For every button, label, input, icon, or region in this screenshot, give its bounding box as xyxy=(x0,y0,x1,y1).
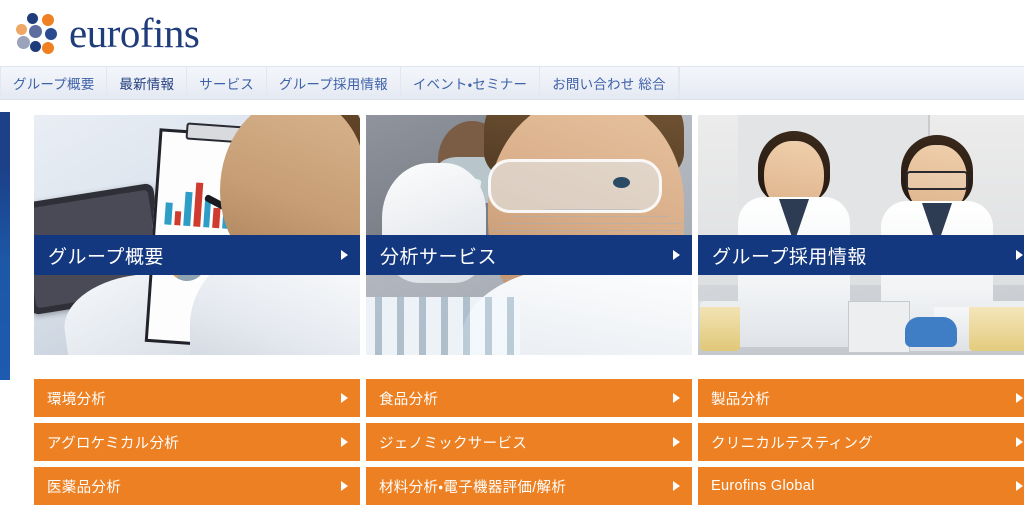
page-body: グループ概要 xyxy=(0,100,1024,504)
arrow-right-icon xyxy=(341,481,348,491)
hero-card-analysis-services[interactable]: 分析サービス xyxy=(366,115,692,355)
arrow-right-icon xyxy=(673,437,680,447)
content-area: グループ概要 xyxy=(34,100,1024,504)
eurofins-wordmark: eurofins xyxy=(69,13,199,54)
tile-label: 製品分析 xyxy=(711,388,770,409)
hero-bar-group-careers[interactable]: グループ採用情報 xyxy=(698,235,1024,275)
tile-label: ジェノミックサービス xyxy=(379,432,527,453)
arrow-right-icon xyxy=(673,250,680,260)
nav-item-services[interactable]: サービス xyxy=(187,67,267,99)
eurofins-logo[interactable]: eurofins xyxy=(14,11,199,55)
tile-label: 環境分析 xyxy=(47,388,106,409)
tile-label: 材料分析・電子機器評価/解析 xyxy=(379,476,566,497)
service-tile-eurofins-global[interactable]: Eurofins Global xyxy=(698,467,1024,505)
tile-label: 医薬品分析 xyxy=(47,476,121,497)
hero-label: グループ概要 xyxy=(48,242,164,269)
tile-label: クリニカルテスティング xyxy=(711,432,873,453)
eurofins-dots-logo-icon xyxy=(14,11,58,55)
service-tile-materials-electronics-analysis[interactable]: 材料分析・電子機器評価/解析 xyxy=(366,467,692,505)
service-tile-product-analysis[interactable]: 製品分析 xyxy=(698,379,1024,417)
arrow-right-icon xyxy=(1016,250,1023,260)
tile-label: 食品分析 xyxy=(379,388,438,409)
primary-navigation: グループ概要 最新情報 サービス グループ採用情報 イベント・セミナー お問い合… xyxy=(0,66,1024,100)
hero-card-row: グループ概要 xyxy=(34,100,1024,355)
arrow-right-icon xyxy=(341,393,348,403)
nav-item-contact-general[interactable]: お問い合わせ 総合 xyxy=(540,67,679,99)
tile-label: Eurofins Global xyxy=(711,478,815,494)
tile-label: アグロケミカル分析 xyxy=(47,432,179,453)
arrow-right-icon xyxy=(341,437,348,447)
arrow-right-icon xyxy=(341,250,348,260)
arrow-right-icon xyxy=(1016,437,1023,447)
arrow-right-icon xyxy=(1016,481,1023,491)
service-tile-grid: 環境分析 食品分析 製品分析 アグロケミカル分析 ジェノミックサービス クリニカ… xyxy=(34,379,1024,505)
nav-item-latest-news[interactable]: 最新情報 xyxy=(107,67,187,99)
arrow-right-icon xyxy=(673,393,680,403)
arrow-right-icon xyxy=(1016,393,1023,403)
service-tile-clinical-testing[interactable]: クリニカルテスティング xyxy=(698,423,1024,461)
hero-card-group-overview[interactable]: グループ概要 xyxy=(34,115,360,355)
service-tile-pharmaceutical-analysis[interactable]: 医薬品分析 xyxy=(34,467,360,505)
hero-label: グループ採用情報 xyxy=(712,242,867,269)
hero-card-group-careers[interactable]: グループ採用情報 xyxy=(698,115,1024,355)
nav-item-group-overview[interactable]: グループ概要 xyxy=(0,67,107,99)
hero-bar-analysis-services[interactable]: 分析サービス xyxy=(366,235,692,275)
left-blue-rail xyxy=(0,112,10,380)
service-tile-agrochemical-analysis[interactable]: アグロケミカル分析 xyxy=(34,423,360,461)
nav-item-events-seminars[interactable]: イベント・セミナー xyxy=(401,67,540,99)
nav-item-group-careers[interactable]: グループ採用情報 xyxy=(267,67,401,99)
hero-label: 分析サービス xyxy=(380,242,497,269)
service-tile-food-analysis[interactable]: 食品分析 xyxy=(366,379,692,417)
nav-spacer xyxy=(679,67,1024,99)
service-tile-genomic-services[interactable]: ジェノミックサービス xyxy=(366,423,692,461)
arrow-right-icon xyxy=(673,481,680,491)
site-header: eurofins xyxy=(0,0,1024,66)
hero-bar-group-overview[interactable]: グループ概要 xyxy=(34,235,360,275)
service-tile-environmental-analysis[interactable]: 環境分析 xyxy=(34,379,360,417)
